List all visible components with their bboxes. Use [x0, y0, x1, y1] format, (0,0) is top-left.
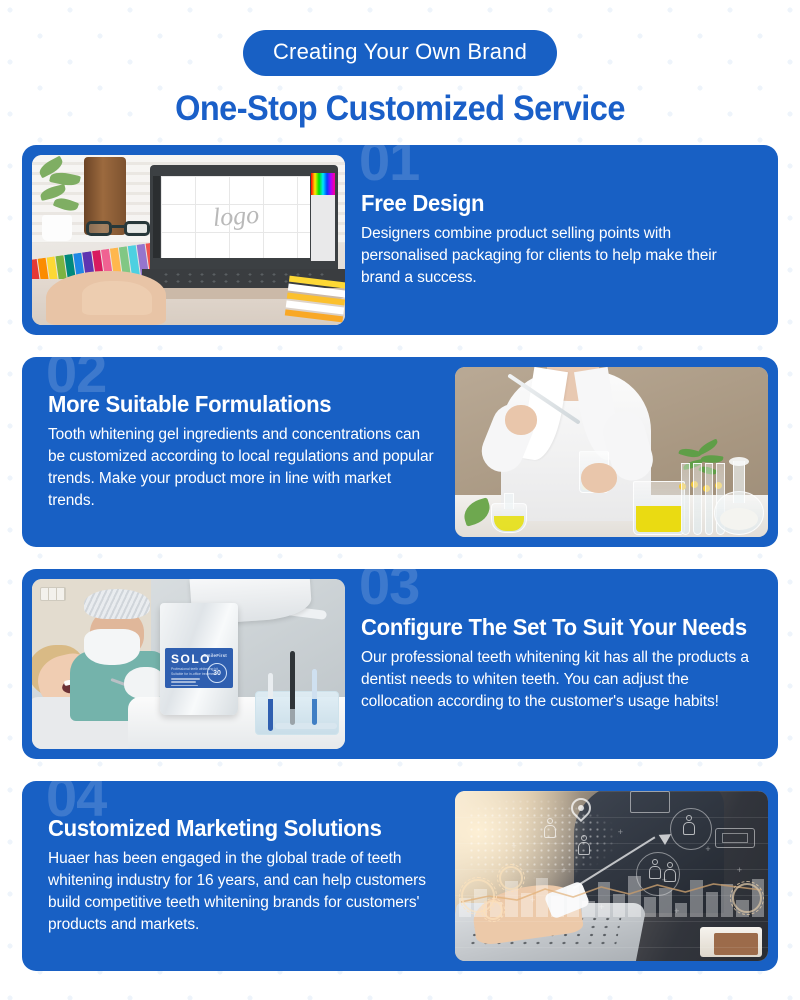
color-picker-gradient	[311, 173, 335, 195]
card-1-number: 01	[359, 145, 419, 189]
yellow-flask	[489, 493, 529, 533]
hand-on-keyboard	[46, 271, 166, 325]
data-overlay-graphics: + + + + + + + + +	[455, 791, 768, 961]
yellow-swatch-strip	[285, 276, 345, 323]
dentist-treatment-photo: SOLO SmileFirst Professional teeth white…	[32, 579, 345, 749]
card-2-body: 02 More Suitable Formulations Tooth whit…	[32, 367, 455, 537]
card-1-image: logo	[32, 155, 345, 325]
gear-icon	[483, 900, 503, 920]
card-1-text: Designers combine product selling points…	[361, 223, 754, 289]
marketing-analytics-photo: + + + + + + + + +	[455, 791, 768, 961]
product-brand: SmileFirst	[203, 653, 227, 658]
card-2-image	[455, 367, 768, 537]
service-card-4[interactable]: + + + + + + + + + 04 Customized Marketin…	[22, 781, 778, 971]
service-card-1[interactable]: logo 01 Free Design Designers combi	[22, 145, 778, 335]
page-header: Creating Your Own Brand One-Stop Customi…	[0, 0, 800, 129]
map-pin-icon	[571, 798, 591, 824]
eyeglasses-decor	[86, 219, 150, 239]
wall-switch	[40, 587, 66, 601]
gear-icon	[732, 883, 762, 913]
card-4-text: Huaer has been engaged in the global tra…	[48, 848, 441, 936]
card-4-image: + + + + + + + + +	[455, 791, 768, 961]
card-3-text: Our professional teeth whitening kit has…	[361, 647, 754, 713]
card-2-title: More Suitable Formulations	[48, 392, 425, 417]
header-badge: Creating Your Own Brand	[243, 30, 557, 76]
service-card-3[interactable]: SOLO SmileFirst Professional teeth white…	[22, 569, 778, 759]
product-label: SOLO SmileFirst Professional teeth white…	[165, 648, 233, 688]
card-4-body: 04 Customized Marketing Solutions Huaer …	[32, 791, 455, 961]
designer-laptop-photo: logo	[32, 155, 345, 325]
card-2-text: Tooth whitening gel ingredients and conc…	[48, 424, 441, 512]
gear-icon	[499, 866, 523, 890]
service-card-list: logo 01 Free Design Designers combi	[0, 145, 800, 971]
product-badge: 30	[207, 663, 227, 683]
card-3-title: Configure The Set To Suit Your Needs	[361, 615, 738, 640]
service-card-2[interactable]: 02 More Suitable Formulations Tooth whit…	[22, 357, 778, 547]
card-3-body: 03 Configure The Set To Suit Your Needs …	[345, 579, 768, 749]
solo-product-pouch: SOLO SmileFirst Professional teeth white…	[160, 603, 238, 715]
card-1-body: 01 Free Design Designers combine product…	[345, 155, 768, 325]
devices-icon	[715, 828, 755, 848]
page-title: One-Stop Customized Service	[28, 89, 772, 129]
card-3-image: SOLO SmileFirst Professional teeth white…	[32, 579, 345, 749]
building-icon	[630, 791, 670, 813]
card-1-title: Free Design	[361, 191, 738, 216]
presenter-icon	[682, 815, 696, 841]
logo-artwork-text: logo	[211, 200, 259, 233]
volumetric-flask	[714, 457, 764, 535]
lab-formulation-photo	[455, 367, 768, 537]
plant-decor	[36, 159, 88, 233]
person-icon	[543, 818, 557, 844]
card-4-title: Customized Marketing Solutions	[48, 816, 425, 841]
card-3-number: 03	[359, 569, 419, 613]
